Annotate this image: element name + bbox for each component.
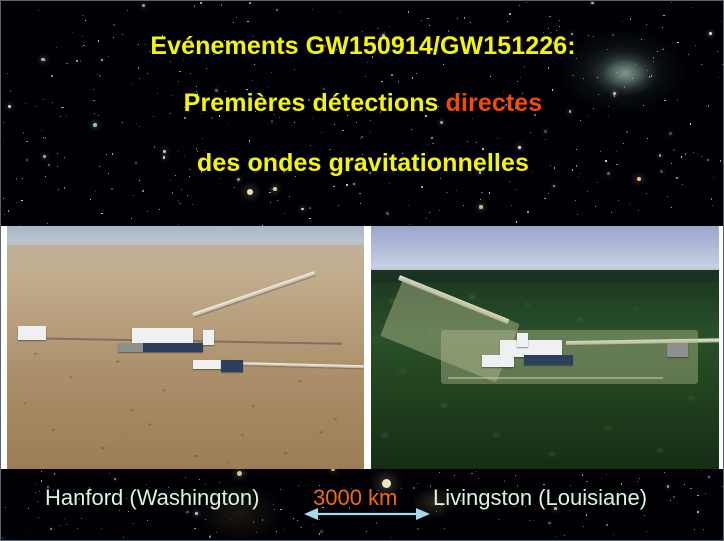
hanford-caption-label: Hanford (Washington) [45,487,259,509]
livingston-support-building [482,355,513,367]
hanford-storage-building [221,360,242,372]
title-line-3: des ondes gravitationnelles [1,151,724,176]
livingston-photo [371,226,719,469]
hanford-outbuilding-west [18,326,47,341]
title-line-1: Evénements GW150914/GW151226: [1,34,724,59]
hanford-vertex-tower [203,330,214,345]
hanford-support-building [193,360,225,370]
title-line-2: Premières détections directes [1,91,724,116]
livingston-caption-label: Livingston (Louisiane) [433,487,647,509]
observatory-photo-strip [1,226,724,469]
presentation-slide: Evénements GW150914/GW151226: Premières … [0,0,724,541]
title-line-2-orange-text: directes [446,89,543,117]
site-caption-bar: Hanford (Washington) 3000 km Livingston … [1,469,724,541]
title-line-2-yellow-text: Premières détections [184,89,446,117]
hanford-corner-station-wall [143,343,204,353]
title-line-1-text: Evénements GW150914/GW151226: [150,32,575,60]
distance-double-arrow-icon [304,505,430,523]
title-line-3-text: des ondes gravitationnelles [197,149,529,177]
hanford-scrub-vegetation [7,338,364,469]
livingston-vertex-tower [517,333,527,348]
hanford-photo [7,226,364,469]
livingston-access-road [448,377,664,379]
slide-title-block: Evénements GW150914/GW151226: Premières … [1,1,724,223]
livingston-end-station [667,343,688,358]
hanford-annex-building [118,343,143,353]
livingston-corner-station-wall [524,355,573,365]
